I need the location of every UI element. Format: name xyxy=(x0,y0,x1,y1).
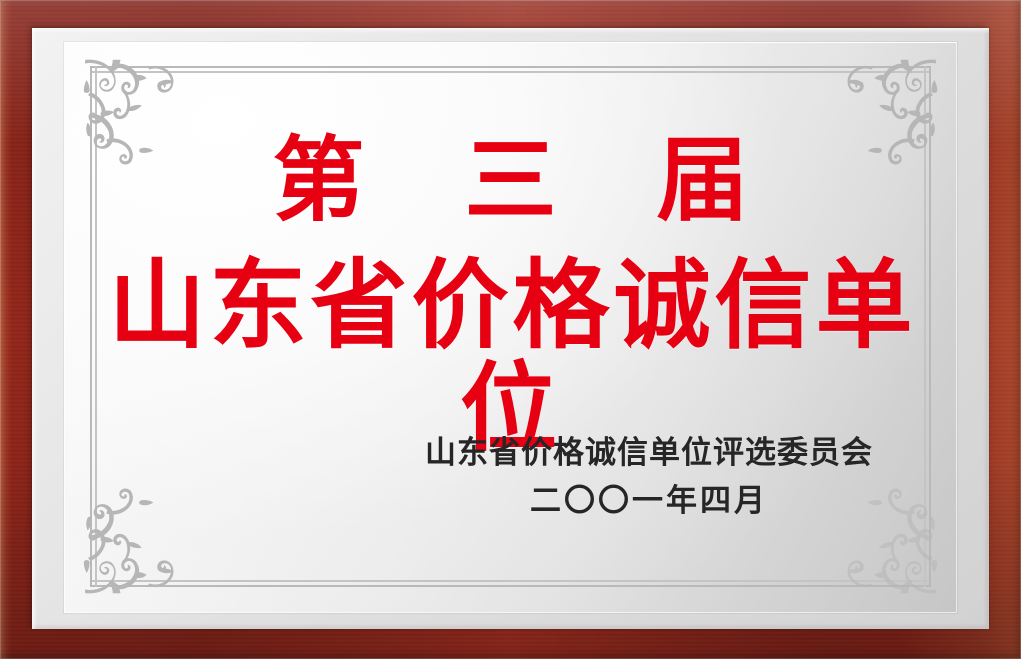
issue-date: 二〇〇一年四月 xyxy=(425,482,873,521)
plaque-panel: 第 三 届 山东省价格诚信单位 山东省价格诚信单位评选委员会 二〇〇一年四月 xyxy=(64,42,957,613)
issuing-organization: 山东省价格诚信单位评选委员会 xyxy=(425,434,873,473)
award-plaque: 第 三 届 山东省价格诚信单位 山东省价格诚信单位评选委员会 二〇〇一年四月 xyxy=(0,0,1021,659)
plaque-content: 第 三 届 山东省价格诚信单位 山东省价格诚信单位评选委员会 二〇〇一年四月 xyxy=(64,42,957,613)
award-title-line-2: 山东省价格诚信单位 xyxy=(64,254,957,460)
award-title: 第 三 届 山东省价格诚信单位 xyxy=(64,134,957,459)
award-title-line-1: 第 三 届 xyxy=(64,134,957,228)
signature-block: 山东省价格诚信单位评选委员会 二〇〇一年四月 xyxy=(425,434,873,522)
